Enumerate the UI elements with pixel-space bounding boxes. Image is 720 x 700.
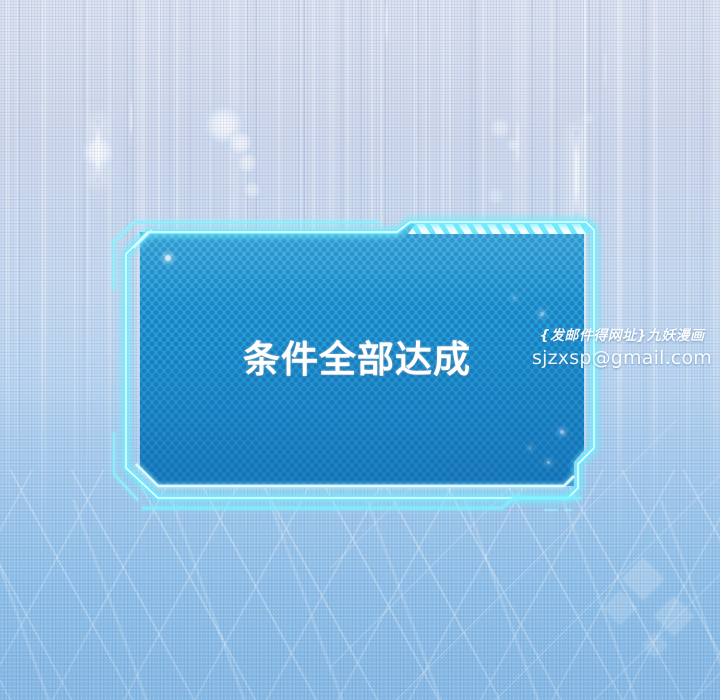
comic-panel-scene: 条件全部达成 {发邮件得网址}九妖漫画 sjzxsp@gmail.com [0, 0, 720, 700]
watermark-email-line: sjzxsp@gmail.com [532, 347, 712, 369]
light-bar [385, 0, 388, 44]
hud-corner-accent-topleft [134, 230, 152, 248]
glow-orb [202, 103, 246, 147]
glow-orb [80, 134, 116, 170]
light-bar [516, 118, 519, 166]
glow-orb [235, 151, 259, 175]
glow-orb [242, 180, 262, 200]
hud-inner-chevron-bottom-core [136, 464, 574, 486]
light-bar [96, 120, 100, 182]
hud-title: 条件全部达成 [112, 340, 602, 381]
glow-orb [580, 110, 596, 126]
watermark: {发邮件得网址}九妖漫画 sjzxsp@gmail.com [532, 325, 712, 369]
glow-orb [488, 116, 512, 140]
light-bar [604, 50, 606, 86]
watermark-chinese-line: {发邮件得网址}九妖漫画 [532, 325, 712, 345]
light-bar [130, 96, 132, 138]
glow-orb [486, 186, 506, 206]
hud-inner-chevron-bottom [136, 464, 574, 486]
glow-orb [226, 129, 254, 157]
light-bar [574, 130, 579, 218]
glow-orb [505, 137, 521, 153]
